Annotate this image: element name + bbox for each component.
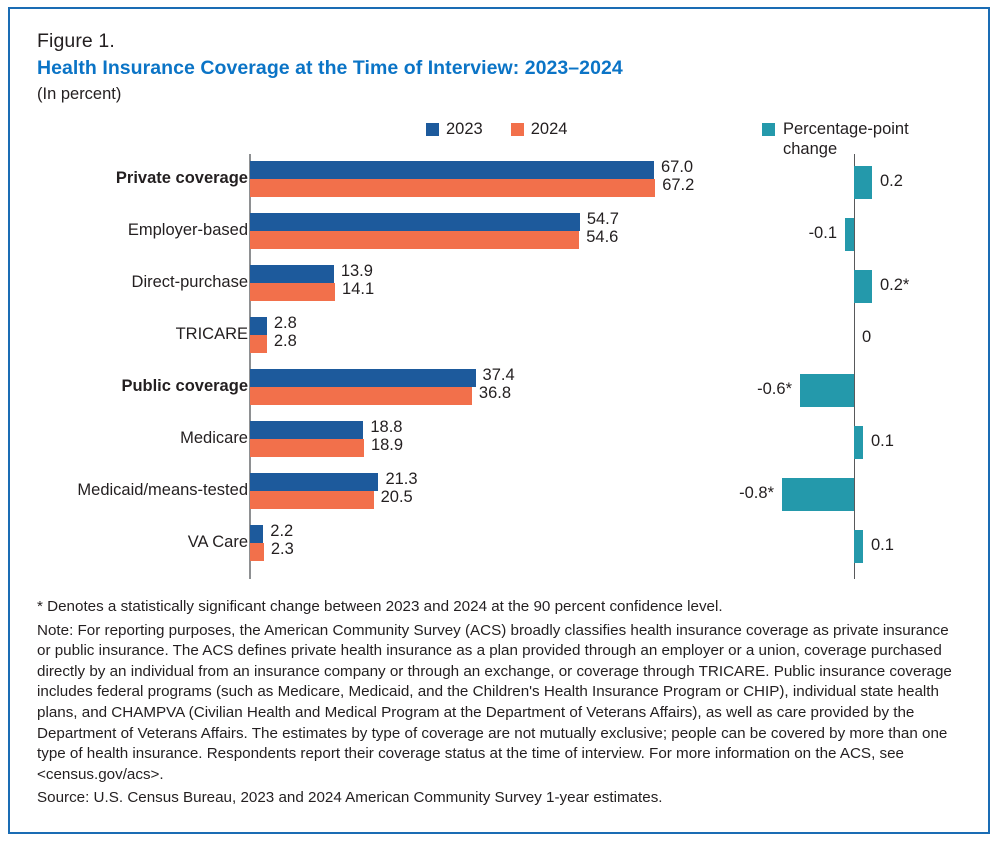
chart-row: TRICARE2.82.80	[10, 313, 988, 365]
legend-label-change: Percentage-point change	[783, 119, 909, 159]
change-value-label: 0	[862, 328, 871, 347]
bar-value-2023: 54.7	[587, 210, 619, 229]
bar-2024	[250, 179, 655, 197]
legend-swatch-2023	[426, 123, 439, 136]
bar-2023	[250, 525, 263, 543]
bar-2023	[250, 317, 267, 335]
bar-2023	[250, 369, 476, 387]
chart-row: Private coverage67.067.20.2	[10, 157, 988, 209]
chart-row: Public coverage37.436.8-0.6*	[10, 365, 988, 417]
category-label: VA Care	[0, 533, 248, 552]
bar-value-2024: 36.8	[479, 384, 511, 403]
bar-2023	[250, 265, 334, 283]
bar-2023	[250, 213, 580, 231]
bar-value-2024: 18.9	[371, 436, 403, 455]
change-bar	[854, 270, 872, 303]
bar-value-2024: 2.8	[274, 332, 297, 351]
change-bar	[854, 166, 872, 199]
bar-2024	[250, 231, 579, 249]
figure-subtitle: (In percent)	[37, 85, 121, 104]
chart-row: Medicaid/means-tested21.320.5-0.8*	[10, 469, 988, 521]
change-value-label: -0.6*	[748, 380, 792, 399]
change-bar	[854, 530, 863, 563]
legend-change: Percentage-point change	[762, 119, 909, 159]
change-value-label: -0.1	[793, 224, 837, 243]
change-value-label: 0.2*	[880, 276, 909, 295]
figure-notes: * Denotes a statistically significant ch…	[37, 597, 962, 812]
chart-row: Medicare18.818.90.1	[10, 417, 988, 469]
bar-value-2024: 54.6	[586, 228, 618, 247]
bar-value-2024: 20.5	[381, 488, 413, 507]
bar-2023	[250, 473, 378, 491]
change-value-label: 0.1	[871, 536, 894, 555]
bar-2024	[250, 387, 472, 405]
figure-card: Figure 1. Health Insurance Coverage at t…	[8, 7, 990, 834]
chart-area: Private coverage67.067.20.2Employer-base…	[10, 154, 988, 584]
change-value-label: -0.8*	[730, 484, 774, 503]
bar-value-2024: 14.1	[342, 280, 374, 299]
change-bar	[800, 374, 854, 407]
note-asterisk: * Denotes a statistically significant ch…	[37, 597, 962, 618]
category-label: Medicaid/means-tested	[0, 481, 248, 500]
figure-number: Figure 1.	[37, 30, 115, 53]
bar-value-2023: 21.3	[385, 470, 417, 489]
change-bar	[845, 218, 854, 251]
bar-value-2023: 2.2	[270, 522, 293, 541]
bar-value-2023: 67.0	[661, 158, 693, 177]
change-value-label: 0.1	[871, 432, 894, 451]
legend-swatch-change	[762, 123, 775, 136]
category-label: Public coverage	[0, 377, 248, 396]
legend-swatch-2024	[511, 123, 524, 136]
category-label: Direct-purchase	[0, 273, 248, 292]
category-label: Private coverage	[0, 169, 248, 188]
page-title: Health Insurance Coverage at the Time of…	[37, 57, 623, 80]
note-body: Note: For reporting purposes, the Americ…	[37, 621, 962, 786]
bar-2024	[250, 283, 335, 301]
bar-value-2023: 13.9	[341, 262, 373, 281]
bar-value-2023: 37.4	[483, 366, 515, 385]
bar-value-2024: 67.2	[662, 176, 694, 195]
bar-2024	[250, 439, 364, 457]
change-value-label: 0.2	[880, 172, 903, 191]
bar-2023	[250, 161, 654, 179]
chart-row: Direct-purchase13.914.10.2*	[10, 261, 988, 313]
legend-label-2023: 2023	[446, 119, 483, 139]
note-source: Source: U.S. Census Bureau, 2023 and 202…	[37, 788, 962, 809]
legend-item-2024: 2024	[511, 119, 568, 139]
chart-row: Employer-based54.754.6-0.1	[10, 209, 988, 261]
bar-2024	[250, 491, 374, 509]
bar-value-2023: 18.8	[370, 418, 402, 437]
legend-label-2024: 2024	[531, 119, 568, 139]
legend-series: 2023 2024	[426, 119, 567, 139]
bar-value-2024: 2.3	[271, 540, 294, 559]
change-bar	[782, 478, 854, 511]
bar-value-2023: 2.8	[274, 314, 297, 333]
category-label: Employer-based	[0, 221, 248, 240]
bar-2023	[250, 421, 363, 439]
bar-2024	[250, 543, 264, 561]
category-label: TRICARE	[0, 325, 248, 344]
chart-row: VA Care2.22.30.1	[10, 521, 988, 573]
legend-item-2023: 2023	[426, 119, 483, 139]
change-bar	[854, 426, 863, 459]
bar-2024	[250, 335, 267, 353]
category-label: Medicare	[0, 429, 248, 448]
